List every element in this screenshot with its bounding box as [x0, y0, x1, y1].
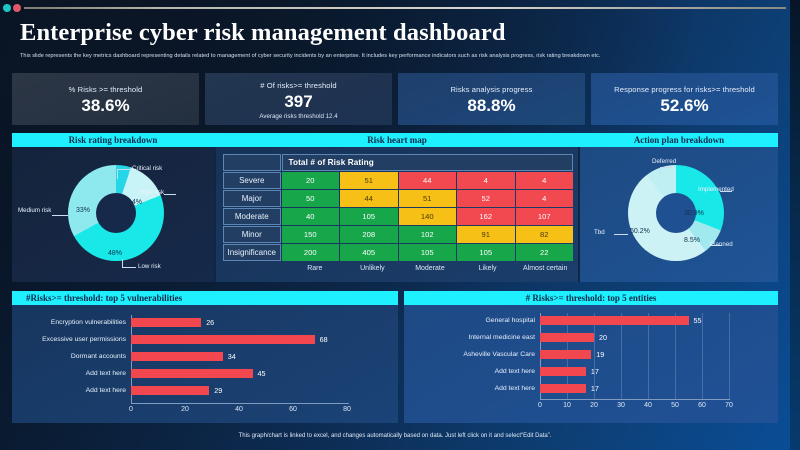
risk-rating-panel: Critical risk High risk Low risk Medium … [12, 147, 214, 282]
kpi-card-analysis-progress: Risks analysis progress 88.8% [398, 73, 585, 125]
list-item: Add text here 17 [540, 384, 599, 393]
right-edge-strip [790, 0, 800, 450]
action-plan-panel: Deferred Implemented Planned Tbd 30.9% 8… [580, 147, 778, 282]
heat-row-label-major: Major [223, 190, 281, 207]
bar-category-label: Add text here [495, 367, 540, 376]
donut-label-low-risk: Low risk [138, 263, 161, 270]
bar-value-label: 55 [694, 316, 702, 325]
heat-cell: 105 [340, 208, 398, 225]
donut-label-planned: Planned [710, 241, 733, 248]
heat-cell: 140 [399, 208, 457, 225]
bar-category-label: Add text here [86, 386, 131, 395]
heat-cell: 105 [399, 244, 457, 261]
list-item: Dormant accounts 34 [131, 352, 236, 361]
heat-cell: 208 [340, 226, 398, 243]
bar-fill [540, 384, 586, 393]
x-tick-label: 0 [538, 402, 542, 409]
donut-pct-tbd: 50.2% [630, 228, 650, 235]
section-title-top-vulnerabilities: #Risks>= threshold: top 5 vulnerabilitie… [12, 291, 398, 305]
gridline [648, 313, 649, 399]
kpi-label: Risks analysis progress [450, 85, 532, 94]
x-tick-label: 20 [181, 406, 189, 413]
donut-label-high-risk: High risk [140, 189, 164, 196]
leader-line-deferred [660, 167, 661, 175]
bar-value-label: 68 [320, 335, 328, 344]
top-rule-decoration [24, 7, 786, 9]
table-row: Major 50 44 51 52 4 [223, 190, 573, 207]
kpi-label: Response progress for risks>= threshold [614, 85, 755, 94]
kpi-label: % Risks >= threshold [69, 85, 143, 94]
list-item: Add text here 29 [131, 386, 222, 395]
leader-line-medium [52, 215, 68, 216]
heat-cell: 20 [282, 172, 340, 189]
heat-cell: 102 [399, 226, 457, 243]
heat-cell: 44 [340, 190, 398, 207]
heat-cell: 4 [516, 172, 574, 189]
section-title-top-entities: # Risks>= threshold: top 5 entities [404, 291, 778, 305]
kpi-value: 88.8% [467, 95, 515, 116]
kpi-card-percent-risks: % Risks >= threshold 38.6% [12, 73, 199, 125]
heat-map-title-cell: Total # of Risk Rating [282, 154, 574, 171]
kpi-value: 38.6% [81, 95, 129, 116]
x-tick-label: 0 [129, 406, 133, 413]
heat-cell: 4 [457, 172, 515, 189]
bar-category-label: Asheville Vascular Care [463, 350, 540, 359]
heat-row-label-severe: Severe [223, 172, 281, 189]
section-title-heat-map: Risk heart map [214, 133, 580, 147]
table-row: Insignificance 200 405 105 105 22 [223, 244, 573, 261]
bar-category-label: General hospital [486, 316, 541, 325]
bar-fill [131, 352, 223, 361]
bar-fill [131, 335, 315, 344]
slide-canvas: Enterprise cyber risk management dashboa… [0, 0, 790, 450]
heat-cell: 150 [282, 226, 340, 243]
heat-cell: 200 [282, 244, 340, 261]
table-row: Minor 150 208 102 91 82 [223, 226, 573, 243]
heat-map-header-row: Total # of Risk Rating [223, 154, 573, 171]
donut-pct-planned: 8.5% [684, 237, 700, 244]
gridline [729, 313, 730, 399]
x-tick-label: 70 [725, 402, 733, 409]
bar-group: Encryption vulnerabilities 26 Excessive … [12, 305, 398, 423]
heat-x-label-moderate: Moderate [401, 265, 459, 277]
kpi-label: # Of risks>= threshold [260, 81, 336, 90]
x-tick-label: 40 [644, 402, 652, 409]
heat-row-label-minor: Minor [223, 226, 281, 243]
heat-row-label-moderate: Moderate [223, 208, 281, 225]
donut-label-deferred: Deferred [652, 158, 676, 165]
list-item: Add text here 17 [540, 367, 599, 376]
heat-cell: 4 [516, 190, 574, 207]
bar-value-label: 29 [214, 386, 222, 395]
bar-category-label: Encryption vulnerabilities [51, 318, 131, 327]
leader-line-deferred-h [660, 167, 672, 168]
bar-fill [540, 367, 586, 376]
donut-label-tbd: Tbd [594, 229, 605, 236]
bar-fill [540, 333, 594, 342]
kpi-card-number-risks: # Of risks>= threshold 397 Average risks… [205, 73, 392, 125]
page-subtitle: This slide represents the key metrics da… [20, 53, 782, 60]
bar-value-label: 34 [228, 352, 236, 361]
leader-line-low-h [122, 267, 136, 268]
middle-section-header-bar: Risk rating breakdown Risk heart map Act… [12, 133, 778, 147]
heat-cell: 162 [457, 208, 515, 225]
section-title-risk-rating: Risk rating breakdown [12, 133, 214, 147]
x-axis-line [131, 403, 349, 404]
kpi-value: 397 [284, 91, 312, 112]
x-tick-label: 60 [698, 402, 706, 409]
heat-cell: 107 [516, 208, 574, 225]
bar-category-label: Add text here [86, 369, 131, 378]
bar-value-label: 17 [591, 367, 599, 376]
list-item: Excessive user permissions 68 [131, 335, 328, 344]
bar-category-label: Add text here [495, 384, 540, 393]
heat-map-x-axis: Rare Unlikely Moderate Likely Almost cer… [286, 265, 574, 277]
page-title: Enterprise cyber risk management dashboa… [20, 19, 506, 47]
donut-pct-implemented: 30.9% [684, 210, 704, 217]
leader-line-critical [117, 169, 118, 179]
top-entities-chart: General hospital 55 Internal medicine ea… [404, 305, 778, 423]
kpi-value: 52.6% [660, 95, 708, 116]
section-title-action-plan: Action plan breakdown [580, 133, 778, 147]
heat-cell: 82 [516, 226, 574, 243]
bar-category-label: Dormant accounts [71, 352, 131, 361]
list-item: Internal medicine east 20 [540, 333, 607, 342]
heat-cell: 91 [457, 226, 515, 243]
middle-section-body: Critical risk High risk Low risk Medium … [12, 147, 778, 282]
x-tick-label: 50 [671, 402, 679, 409]
heat-x-label-unlikely: Unlikely [344, 265, 402, 277]
heat-cell: 105 [457, 244, 515, 261]
bar-fill [131, 369, 253, 378]
x-tick-label: 10 [563, 402, 571, 409]
table-row: Moderate 40 105 140 162 107 [223, 208, 573, 225]
bar-group: General hospital 55 Internal medicine ea… [404, 305, 778, 423]
leader-line-high [164, 194, 176, 195]
bar-value-label: 45 [258, 369, 266, 378]
bar-value-label: 19 [596, 350, 604, 359]
donut-pct-high-risk: 14% [128, 199, 142, 206]
donut-pct-low-risk: 48% [108, 250, 122, 257]
heat-cell: 44 [399, 172, 457, 189]
bar-value-label: 17 [591, 384, 599, 393]
donut-label-medium-text: Medium risk [18, 207, 51, 214]
bar-value-label: 26 [206, 318, 214, 327]
gridline [702, 313, 703, 399]
x-axis-line [540, 399, 730, 400]
list-item: Asheville Vascular Care 19 [540, 350, 604, 359]
x-tick-label: 80 [343, 406, 351, 413]
heat-cell: 50 [282, 190, 340, 207]
list-item: Add text here 45 [131, 369, 266, 378]
heat-cell: 52 [457, 190, 515, 207]
top-vulnerabilities-chart: Encryption vulnerabilities 26 Excessive … [12, 305, 398, 423]
heat-x-label-almost-certain: Almost certain [516, 265, 574, 277]
heat-cell: 51 [340, 172, 398, 189]
footer-note: This graph/chart is linked to excel, and… [0, 433, 790, 439]
gridline [675, 313, 676, 399]
heat-map-corner-cell [223, 154, 281, 171]
x-tick-label: 60 [289, 406, 297, 413]
table-row: Severe 20 51 44 4 4 [223, 172, 573, 189]
bar-fill [540, 350, 591, 359]
heat-cell: 40 [282, 208, 340, 225]
bar-value-label: 20 [599, 333, 607, 342]
heat-cell: 22 [516, 244, 574, 261]
kpi-subtext: Average risks threshold 12.4 [259, 113, 337, 120]
bar-fill [131, 318, 201, 327]
bar-category-label: Internal medicine east [469, 333, 541, 342]
heat-cell: 405 [340, 244, 398, 261]
bar-fill [540, 316, 689, 325]
x-tick-label: 40 [235, 406, 243, 413]
heat-map-table: Total # of Risk Rating Severe 20 51 44 4… [222, 153, 574, 262]
heat-row-label-insignificance: Insignificance [223, 244, 281, 261]
leader-line-tbd [614, 234, 628, 235]
donut-label-medium-risk: Medium risk [18, 207, 52, 214]
bar-category-label: Excessive user permissions [42, 335, 131, 344]
donut-pct-medium-risk: 33% [76, 207, 90, 214]
leader-line-critical-h [117, 169, 131, 170]
list-item: General hospital 55 [540, 316, 702, 325]
donut-label-implemented: Implemented [698, 186, 734, 193]
teal-dot-icon [3, 4, 11, 12]
donut-label-critical-risk: Critical risk [132, 165, 162, 172]
kpi-card-response-progress: Response progress for risks>= threshold … [591, 73, 778, 125]
heat-map-panel: Total # of Risk Rating Severe 20 51 44 4… [214, 147, 580, 282]
heat-x-label-likely: Likely [459, 265, 517, 277]
pink-dot-icon [13, 4, 21, 12]
x-tick-label: 20 [590, 402, 598, 409]
x-tick-label: 30 [617, 402, 625, 409]
bar-fill [131, 386, 209, 395]
gridline [621, 313, 622, 399]
heat-cell: 51 [399, 190, 457, 207]
heat-x-label-rare: Rare [286, 265, 344, 277]
kpi-row: % Risks >= threshold 38.6% # Of risks>= … [12, 73, 778, 125]
list-item: Encryption vulnerabilities 26 [131, 318, 214, 327]
